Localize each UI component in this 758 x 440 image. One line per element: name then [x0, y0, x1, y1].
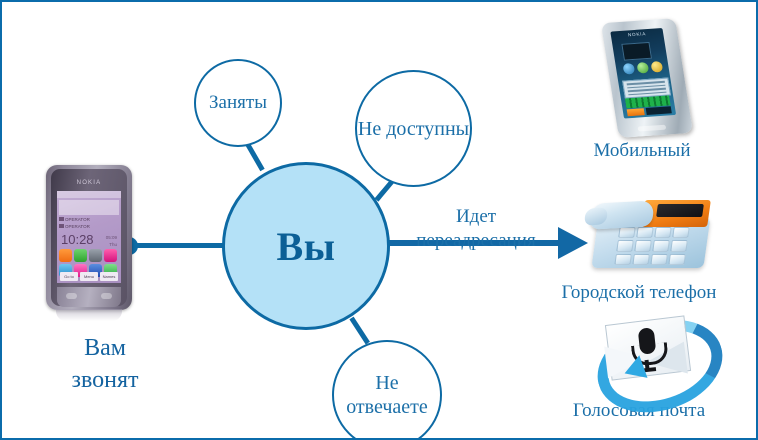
screen-orange-tile	[627, 108, 645, 116]
call-key	[66, 293, 77, 299]
forwarding-label-line2: переадресация	[388, 229, 564, 253]
mobile-phone-image: NOKIA	[610, 20, 702, 142]
keypad-key	[650, 254, 668, 265]
app-icon-green	[74, 249, 87, 262]
landline-display	[656, 204, 704, 217]
keypad-key	[634, 240, 652, 251]
screen-date-line2: Thu	[109, 242, 117, 247]
softkey-menu[interactable]: Menu	[80, 272, 98, 281]
bubble-unavailable-label: Не доступны	[358, 117, 469, 141]
keypad-key	[668, 254, 686, 265]
bubble-no-answer[interactable]: Не отвечаете	[332, 340, 442, 440]
screen-circle-icon-1	[622, 63, 635, 75]
landline-caption: Городской телефон	[522, 282, 756, 304]
screen-dark-bar	[646, 106, 672, 115]
keypad-key	[618, 227, 636, 238]
bubble-you-label: Вы	[277, 223, 336, 270]
bubble-unavailable[interactable]: Не доступны	[355, 70, 472, 187]
keypad-key	[672, 227, 690, 238]
caller-caption-line2: звонят	[20, 364, 190, 396]
app-icon-pink	[104, 249, 117, 262]
bubble-you[interactable]: Вы	[222, 162, 390, 330]
softkey-names[interactable]: Names	[100, 272, 118, 281]
phone-screen: OPERATOR OPERATOR 10:28 05:09 Thu	[57, 191, 121, 283]
app-icon-orange	[59, 249, 72, 262]
phone-bezel: NOKIA OPERATOR OPERATOR 10:28 05:09 Thu	[51, 169, 127, 306]
phone-reflection	[56, 309, 122, 321]
incoming-call-line	[135, 243, 227, 248]
operator-label-1: OPERATOR	[65, 217, 90, 222]
keypad-key	[632, 254, 650, 265]
screen-circle-icon-3	[651, 61, 664, 73]
diagram-canvas: Идет переадресация Заняты Не доступны Не…	[0, 0, 758, 440]
softkey-goto[interactable]: Go to	[60, 272, 78, 281]
end-key	[101, 293, 112, 299]
app-icon-gray	[89, 249, 102, 262]
keypad-key	[616, 240, 634, 251]
screen-status-bar	[57, 191, 121, 198]
keypad-key	[652, 240, 670, 251]
keypad-key	[670, 240, 688, 251]
screen-date: 05:09 Thu	[106, 235, 117, 249]
screen-softkeys: Go to Menu Names	[60, 272, 118, 281]
signal-icon-1	[59, 217, 64, 221]
screen-clock: 10:28	[61, 232, 94, 247]
smartphone-screen: NOKIA	[610, 28, 676, 119]
screen-wallpaper-band	[59, 200, 119, 215]
landline-phone-image	[587, 194, 715, 274]
keypad-key	[614, 254, 632, 265]
connector-no-answer	[349, 317, 370, 345]
landline-keypad	[614, 227, 689, 265]
smartphone-body: NOKIA	[601, 18, 693, 138]
bubble-no-answer-label: Не отвечаете	[334, 371, 440, 419]
signal-icon-2	[59, 224, 64, 228]
caller-phone-image: NOKIA OPERATOR OPERATOR 10:28 05:09 Thu	[46, 165, 132, 317]
caller-caption: Вам звонят	[20, 332, 190, 397]
keypad-key	[654, 227, 672, 238]
keypad-key	[636, 227, 654, 238]
connector-busy	[245, 143, 264, 171]
forwarding-arrow-label: Идет переадресация	[388, 205, 564, 253]
operator-label-2: OPERATOR	[65, 224, 90, 229]
voicemail-icon	[594, 314, 706, 396]
screen-circle-icon-2	[636, 62, 649, 74]
phone-body: NOKIA OPERATOR OPERATOR 10:28 05:09 Thu	[46, 165, 132, 310]
screen-widget-box	[621, 42, 652, 61]
screen-date-line1: 05:09	[106, 235, 117, 240]
forwarding-label-line1: Идет	[388, 205, 564, 229]
smartphone-brand-label: NOKIA	[611, 30, 664, 39]
phone-brand-label: NOKIA	[51, 180, 127, 186]
phone-keypad-area	[57, 287, 121, 307]
bubble-busy[interactable]: Заняты	[194, 59, 282, 147]
mobile-caption: Мобильный	[532, 140, 752, 162]
caller-caption-line1: Вам	[20, 332, 190, 364]
bubble-busy-label: Заняты	[209, 93, 267, 113]
smartphone-home-key	[637, 125, 666, 132]
